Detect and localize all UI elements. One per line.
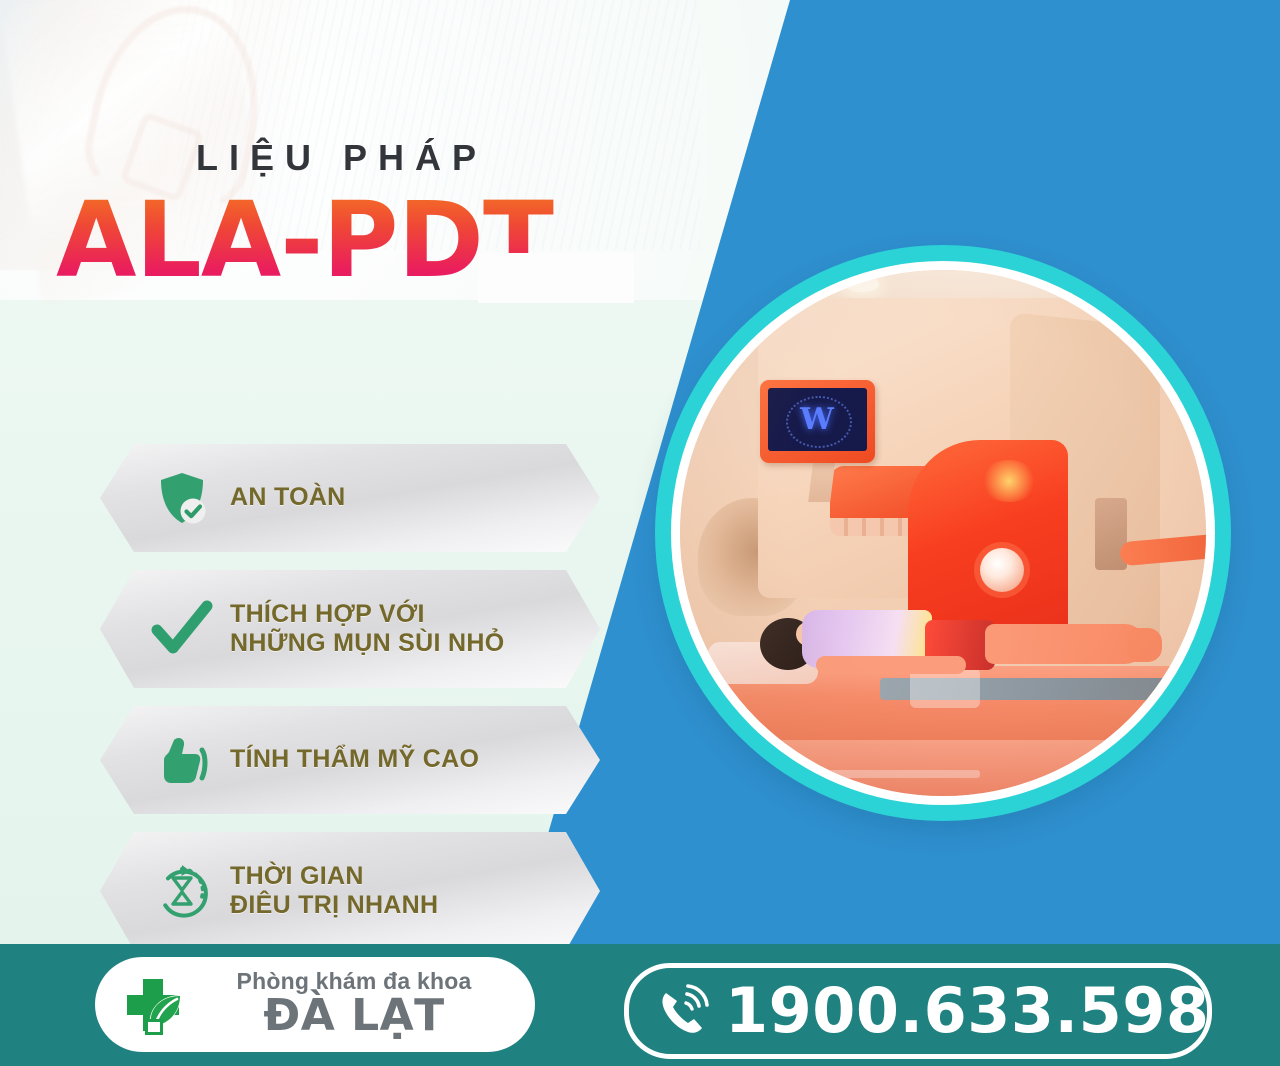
feature-badge-label: TÍNH THẨM MỸ CAO [230, 745, 479, 775]
title-kicker: LIỆU PHÁP [196, 140, 676, 176]
badge-line: TÍNH THẨM MỸ CAO [230, 745, 479, 775]
footer-bar: Phòng khám đa khoa ĐÀ LẠT 1900.633.598 [0, 944, 1280, 1066]
feature-badge-thich-hop[interactable]: THÍCH HỢP VỚI NHỮNG MỤN SÙI NHỎ [100, 570, 600, 688]
shield-check-icon [134, 470, 230, 526]
title-white-cover-block [478, 253, 634, 303]
badge-line: THỜI GIAN [230, 862, 438, 892]
photo-outer-ring: W [655, 245, 1231, 821]
title-block: LIỆU PHÁP ALA-PDT [56, 140, 676, 292]
feature-badge-label: THỜI GIAN ĐIÊU TRỊ NHANH [230, 862, 438, 921]
green-cross-leaf-icon [111, 969, 195, 1041]
feature-badge-label: THÍCH HỢP VỚI NHỮNG MỤN SÙI NHỎ [230, 600, 504, 659]
badge-line: THÍCH HỢP VỚI [230, 600, 504, 630]
feature-badge-label: AN TOÀN [230, 483, 346, 513]
check-mark-icon [134, 600, 230, 658]
feature-badge-an-toan[interactable]: AN TOÀN [100, 444, 600, 552]
phone-cta-pill[interactable]: 1900.633.598 [624, 963, 1212, 1059]
badge-line: ĐIÊU TRỊ NHANH [230, 891, 438, 921]
badge-line: AN TOÀN [230, 483, 346, 513]
feature-badge-list: AN TOÀN THÍCH HỢP VỚI NHỮNG MỤN SÙI NHỎ [100, 444, 600, 968]
clinic-name: ĐÀ LẠT [263, 993, 444, 1039]
feature-badge-tham-my[interactable]: TÍNH THẨM MỸ CAO [100, 706, 600, 814]
clinic-brand-pill[interactable]: Phòng khám đa khoa ĐÀ LẠT [95, 957, 535, 1052]
thumbs-up-icon [134, 733, 230, 787]
clinic-name-group: Phòng khám đa khoa ĐÀ LẠT [195, 969, 535, 1039]
phototherapy-treatment-photo: W [680, 270, 1206, 796]
phone-number: 1900.633.598 [725, 980, 1210, 1042]
photo-white-ring: W [671, 261, 1215, 805]
photo-vignette [680, 270, 1206, 796]
poster-canvas: LIỆU PHÁP ALA-PDT AN TOÀN [0, 0, 1280, 1066]
badge-line: NHỮNG MỤN SÙI NHỎ [230, 629, 504, 659]
feature-badge-thoi-gian[interactable]: THỜI GIAN ĐIÊU TRỊ NHANH [100, 832, 600, 950]
hourglass-clock-icon [134, 861, 230, 921]
phone-call-icon [639, 982, 725, 1040]
